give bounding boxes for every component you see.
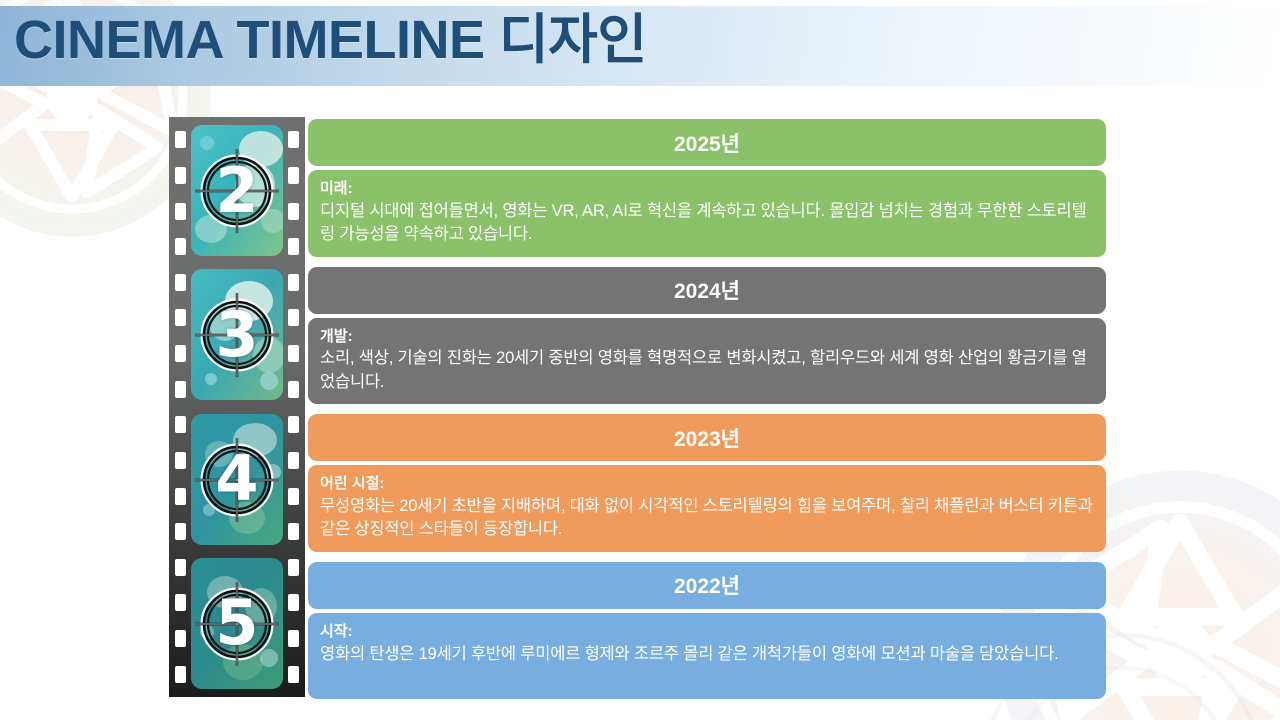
sprocket-hole xyxy=(288,131,299,148)
sprocket-hole xyxy=(175,309,186,326)
page-title: CINEMA TIMELINE 디자인 xyxy=(14,11,647,69)
sprocket-hole xyxy=(175,559,186,576)
timeline-card-body: 미래: 디지털 시대에 접어들면서, 영화는 VR, AR, AI로 혁신을 계… xyxy=(308,170,1106,257)
countdown-number: 2 xyxy=(191,125,283,256)
sprocket-hole xyxy=(175,452,186,469)
timeline-card-2022[interactable]: 2022년 시작: 영화의 탄생은 19세기 후반에 루미에르 형제와 조르주 … xyxy=(308,562,1106,699)
countdown-number: 5 xyxy=(191,558,283,689)
timeline-card-label: 어린 시절: xyxy=(320,473,1094,495)
sprocket-hole xyxy=(175,666,186,683)
sprocket-hole xyxy=(175,203,186,220)
sprocket-hole xyxy=(175,630,186,647)
film-frame-3: 3 xyxy=(191,269,283,400)
timeline-card-header[interactable]: 2024년 xyxy=(308,267,1106,314)
timeline-cards: 2025년 미래: 디지털 시대에 접어들면서, 영화는 VR, AR, AI로… xyxy=(308,119,1106,709)
sprocket-hole xyxy=(288,238,299,255)
timeline-card-text: 무성영화는 20세기 초반을 지배하며, 대화 없이 시각적인 스토리텔링의 힘… xyxy=(320,495,1094,542)
film-frames: 2 xyxy=(191,125,283,689)
sprocket-hole xyxy=(175,274,186,291)
film-frame-2: 2 xyxy=(191,125,283,256)
sprocket-hole xyxy=(175,167,186,184)
timeline-card-header[interactable]: 2022년 xyxy=(308,562,1106,609)
sprocket-hole xyxy=(288,345,299,362)
timeline-card-2024[interactable]: 2024년 개발: 소리, 색상, 기술의 진화는 20세기 중반의 영화를 혁… xyxy=(308,267,1106,405)
sprocket-hole xyxy=(288,594,299,611)
timeline-card-body: 개발: 소리, 색상, 기술의 진화는 20세기 중반의 영화를 혁명적으로 변… xyxy=(308,318,1106,405)
sprocket-hole xyxy=(288,416,299,433)
sprocket-hole xyxy=(175,488,186,505)
film-frame-5: 5 xyxy=(191,558,283,689)
timeline-card-text: 소리, 색상, 기술의 진화는 20세기 중반의 영화를 혁명적으로 변화시켰고… xyxy=(320,347,1094,394)
sprocket-hole xyxy=(288,309,299,326)
sprocket-hole xyxy=(288,488,299,505)
sprocket-hole xyxy=(288,523,299,540)
countdown-number: 4 xyxy=(191,414,283,545)
timeline-card-text: 영화의 탄생은 19세기 후반에 루미에르 형제와 조르주 몰리 같은 개척가들… xyxy=(320,643,1094,666)
sprocket-hole xyxy=(288,559,299,576)
timeline-card-text: 디지털 시대에 접어들면서, 영화는 VR, AR, AI로 혁신을 계속하고 … xyxy=(320,200,1094,247)
timeline-card-body: 어린 시절: 무성영화는 20세기 초반을 지배하며, 대화 없이 시각적인 스… xyxy=(308,465,1106,552)
timeline-card-label: 개발: xyxy=(320,326,1094,348)
countdown-filmstrip: 2 xyxy=(169,117,305,697)
sprocket-hole xyxy=(288,630,299,647)
sprocket-hole xyxy=(288,203,299,220)
sprocket-hole xyxy=(175,523,186,540)
sprocket-hole xyxy=(288,167,299,184)
sprocket-hole xyxy=(288,381,299,398)
countdown-number: 3 xyxy=(191,269,283,400)
timeline-card-label: 시작: xyxy=(320,621,1094,643)
sprocket-hole xyxy=(175,594,186,611)
timeline-card-header[interactable]: 2025년 xyxy=(308,119,1106,166)
timeline-card-body: 시작: 영화의 탄생은 19세기 후반에 루미에르 형제와 조르주 몰리 같은 … xyxy=(308,613,1106,699)
sprocket-hole xyxy=(175,131,186,148)
film-frame-4: 4 xyxy=(191,414,283,545)
sprocket-hole xyxy=(175,238,186,255)
sprocket-holes-left xyxy=(174,117,187,697)
sprocket-hole xyxy=(288,666,299,683)
sprocket-hole xyxy=(175,416,186,433)
timeline-card-2023[interactable]: 2023년 어린 시절: 무성영화는 20세기 초반을 지배하며, 대화 없이 … xyxy=(308,414,1106,552)
timeline-card-2025[interactable]: 2025년 미래: 디지털 시대에 접어들면서, 영화는 VR, AR, AI로… xyxy=(308,119,1106,257)
timeline-card-header[interactable]: 2023년 xyxy=(308,414,1106,461)
sprocket-hole xyxy=(288,452,299,469)
sprocket-hole xyxy=(175,345,186,362)
timeline-card-label: 미래: xyxy=(320,178,1094,200)
sprocket-hole xyxy=(175,381,186,398)
sprocket-holes-right xyxy=(287,117,300,697)
sprocket-hole xyxy=(288,274,299,291)
